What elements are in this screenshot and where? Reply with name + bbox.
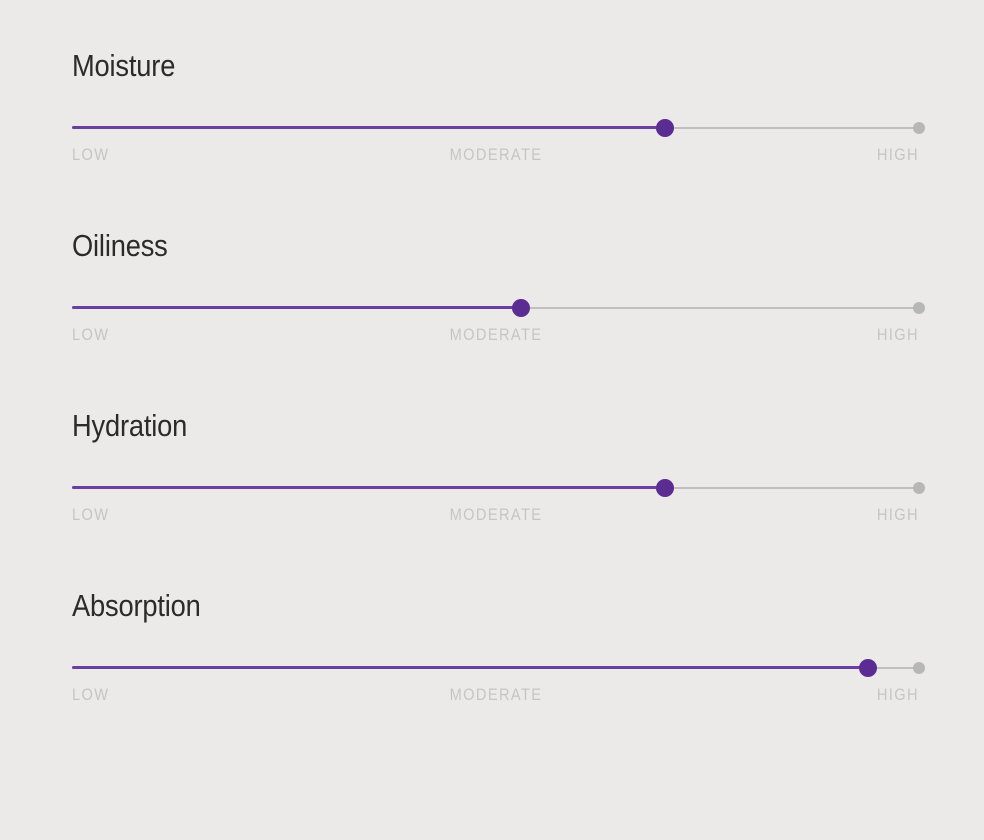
slider-track-hydration[interactable] bbox=[72, 476, 919, 500]
scale-label-high: HIGH bbox=[877, 144, 919, 166]
slider-group-oiliness: Oiliness LOW MODERATE HIGH bbox=[72, 228, 919, 368]
slider-group-absorption: Absorption LOW MODERATE HIGH bbox=[72, 588, 919, 728]
scale-label-moderate: MODERATE bbox=[449, 324, 542, 346]
scale-label-low: LOW bbox=[72, 684, 109, 706]
scale-label-moderate: MODERATE bbox=[449, 144, 542, 166]
scale-label-high: HIGH bbox=[877, 504, 919, 526]
slider-thumb[interactable] bbox=[512, 299, 530, 317]
slider-track-fill bbox=[72, 666, 868, 669]
slider-track-fill bbox=[72, 306, 521, 309]
slider-scale: LOW MODERATE HIGH bbox=[72, 684, 919, 706]
slider-track-fill bbox=[72, 486, 665, 489]
scale-label-low: LOW bbox=[72, 324, 109, 346]
slider-track-absorption[interactable] bbox=[72, 656, 919, 680]
slider-title: Absorption bbox=[72, 588, 201, 624]
slider-group-hydration: Hydration LOW MODERATE HIGH bbox=[72, 408, 919, 548]
slider-end-dot bbox=[913, 662, 925, 674]
scale-label-moderate: MODERATE bbox=[449, 504, 542, 526]
slider-scale: LOW MODERATE HIGH bbox=[72, 324, 919, 346]
slider-track-moisture[interactable] bbox=[72, 116, 919, 140]
slider-end-dot bbox=[913, 302, 925, 314]
slider-group-moisture: Moisture LOW MODERATE HIGH bbox=[72, 48, 919, 188]
slider-scale: LOW MODERATE HIGH bbox=[72, 504, 919, 526]
slider-end-dot bbox=[913, 122, 925, 134]
slider-thumb[interactable] bbox=[859, 659, 877, 677]
scale-label-high: HIGH bbox=[877, 684, 919, 706]
skin-analysis-panel: Moisture LOW MODERATE HIGH Oiliness bbox=[0, 0, 984, 840]
slider-title: Oiliness bbox=[72, 228, 168, 264]
slider-scale: LOW MODERATE HIGH bbox=[72, 144, 919, 166]
scale-label-low: LOW bbox=[72, 504, 109, 526]
slider-track-oiliness[interactable] bbox=[72, 296, 919, 320]
scale-label-moderate: MODERATE bbox=[449, 684, 542, 706]
slider-title: Hydration bbox=[72, 408, 187, 444]
slider-title: Moisture bbox=[72, 48, 175, 84]
scale-label-low: LOW bbox=[72, 144, 109, 166]
scale-label-high: HIGH bbox=[877, 324, 919, 346]
slider-track-fill bbox=[72, 126, 665, 129]
slider-thumb[interactable] bbox=[656, 119, 674, 137]
slider-end-dot bbox=[913, 482, 925, 494]
slider-thumb[interactable] bbox=[656, 479, 674, 497]
